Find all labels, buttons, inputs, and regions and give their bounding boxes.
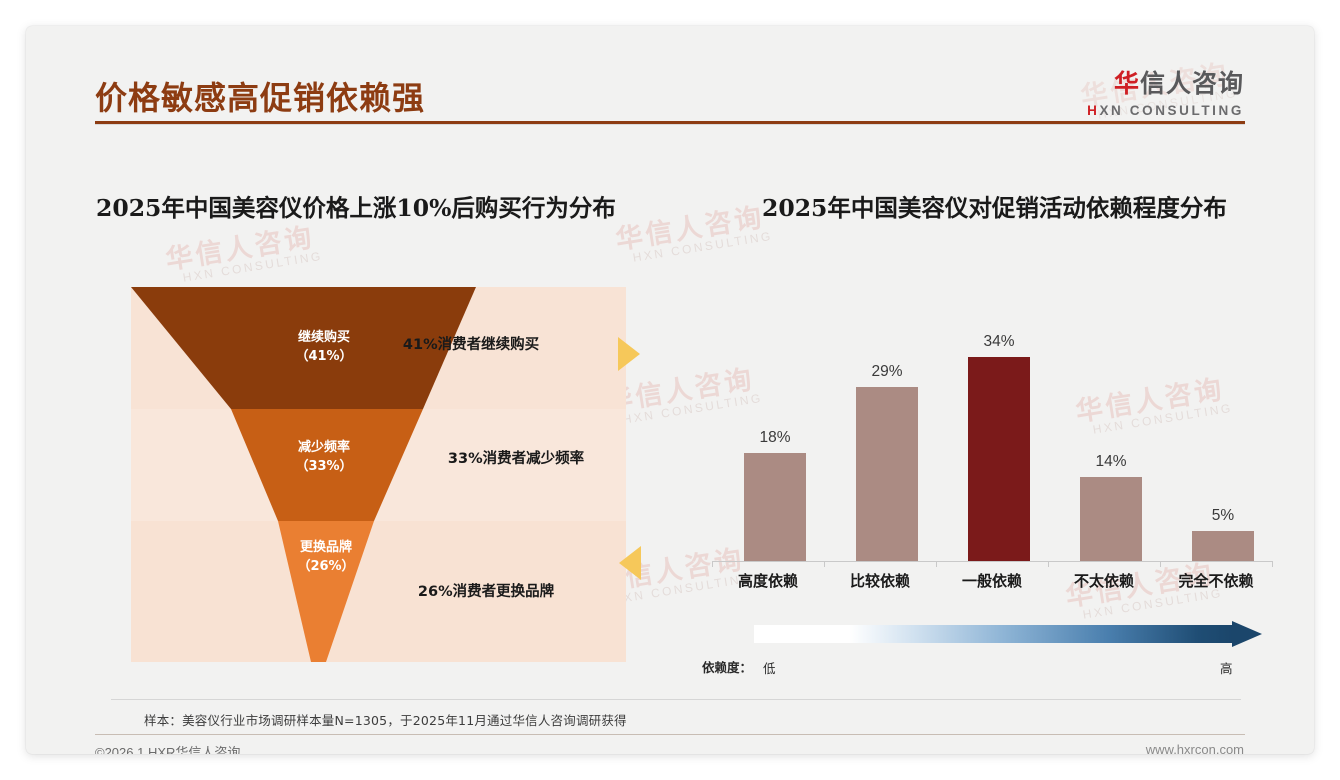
axis-tick	[1272, 561, 1273, 567]
funnel-segment-label-3: 更换品牌 （26%）	[251, 539, 401, 577]
bar-column[interactable]: 18%	[744, 321, 806, 561]
funnel-segment-name-3: 更换品牌	[251, 539, 401, 558]
funnel-segment-label-2: 减少频率 （33%）	[249, 439, 399, 477]
funnel-segment-label-1: 继续购买 （41%）	[249, 329, 399, 367]
bar-column[interactable]: 5%	[1192, 321, 1254, 561]
triangle-right-icon	[618, 337, 640, 371]
legend-title: 依赖度：	[702, 657, 752, 676]
bar-category-label: 高度依赖	[712, 570, 824, 591]
funnel-chart: 继续购买 （41%） 减少频率 （33%） 更换品牌 （26%） 41%消费者继…	[131, 287, 626, 662]
bar-shape[interactable]	[1080, 477, 1142, 561]
bar-category-label: 比较依赖	[824, 570, 936, 591]
website-link[interactable]: www.hxrcon.com	[1146, 742, 1244, 754]
watermark: 华信人咨询 HXN CONSULTING	[164, 222, 324, 287]
source-note: 样本：美容仪行业市场调研样本量N=1305，于2025年11月通过华信人咨询调研…	[144, 710, 627, 729]
axis-tick	[1160, 561, 1161, 567]
axis-tick	[936, 561, 937, 567]
bar-category-label: 不太依赖	[1048, 570, 1160, 591]
dependency-gradient-legend	[754, 621, 1262, 647]
logo-text-en-accent: H	[1087, 103, 1099, 118]
funnel-annotation-2: 33%消费者减少频率	[448, 447, 584, 468]
watermark-cn: 华信人咨询	[614, 202, 772, 254]
copyright-text: ©2026.1 HXR华信人咨询	[95, 742, 240, 754]
logo-text-cn-rest: 信人咨询	[1140, 69, 1244, 98]
bar-value-label: 29%	[856, 363, 918, 381]
bar-value-label: 5%	[1192, 507, 1254, 525]
bar-category-label: 一般依赖	[936, 570, 1048, 591]
x-axis-line	[712, 561, 1272, 562]
logo-text-en-rest: XN CONSULTING	[1099, 103, 1244, 118]
logo-text-cn-accent: 华	[1114, 69, 1140, 98]
bar-shape[interactable]	[856, 387, 918, 561]
bar-shape[interactable]	[1192, 531, 1254, 561]
bar-shape-highlighted[interactable]	[968, 357, 1030, 561]
triangle-left-icon	[619, 546, 641, 580]
watermark-en: HXN CONSULTING	[632, 230, 774, 265]
bar-value-label: 34%	[968, 333, 1030, 351]
bar-shape[interactable]	[744, 453, 806, 561]
funnel-annotation-3: 26%消费者更换品牌	[418, 580, 554, 601]
bar-column[interactable]: 29%	[856, 321, 918, 561]
axis-tick	[1048, 561, 1049, 567]
note-divider	[111, 699, 1241, 700]
legend-low-label: 低	[763, 658, 776, 677]
funnel-segment-value-3: （26%）	[251, 558, 401, 577]
funnel-segment-value-2: （33%）	[249, 458, 399, 477]
right-chart-title: 2025年中国美容仪对促销活动依赖程度分布	[762, 189, 1227, 223]
watermark-en: HXN CONSULTING	[182, 250, 324, 285]
watermark: 华信人咨询 HXN CONSULTING	[1064, 559, 1224, 624]
watermark-en: HXN CONSULTING	[1082, 587, 1224, 622]
legend-high-label: 高	[1220, 658, 1233, 677]
bar-column-highlighted[interactable]: 34%	[968, 321, 1030, 561]
funnel-annotation-1: 41%消费者继续购买	[403, 333, 539, 354]
footer-divider	[95, 734, 1245, 735]
bar-category-label: 完全不依赖	[1156, 570, 1276, 591]
logo-text-en: HXN CONSULTING	[1087, 103, 1244, 118]
left-chart-title: 2025年中国美容仪价格上涨10%后购买行为分布	[96, 189, 616, 223]
gradient-bar	[754, 625, 1232, 643]
slide-card: 华信人咨询 HXN CONSULTING 华信人咨询 HXN CONSULTIN…	[26, 26, 1314, 754]
funnel-segment-name-1: 继续购买	[249, 329, 399, 348]
axis-tick	[824, 561, 825, 567]
gradient-arrow-head-icon	[1232, 621, 1262, 647]
funnel-segment-value-1: （41%）	[249, 348, 399, 367]
axis-tick	[712, 561, 713, 567]
page-title: 价格敏感高促销依赖强	[95, 73, 425, 119]
bar-value-label: 14%	[1080, 453, 1142, 471]
header-divider-light	[95, 124, 1245, 125]
funnel-segment-name-2: 减少频率	[249, 439, 399, 458]
bar-column[interactable]: 14%	[1080, 321, 1142, 561]
watermark: 华信人咨询 HXN CONSULTING	[614, 202, 774, 267]
logo-text-cn: 华信人咨询	[1087, 64, 1244, 100]
brand-logo: 华信人咨询 HXN CONSULTING	[1087, 64, 1244, 118]
bar-value-label: 18%	[744, 429, 806, 447]
watermark-cn: 华信人咨询	[164, 222, 322, 274]
dependency-bar-chart: 18% 29% 34% 14% 5%	[712, 322, 1272, 562]
